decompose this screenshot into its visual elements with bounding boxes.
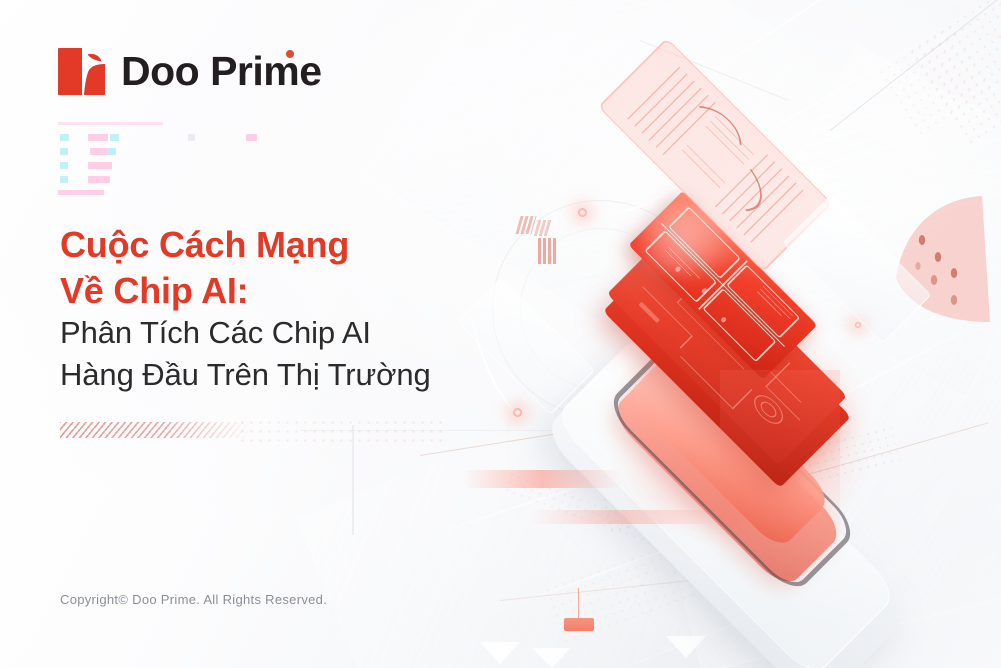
copyright-text: Copyright© Doo Prime. All Rights Reserve… — [60, 592, 327, 607]
brand-accent-dot — [286, 50, 294, 58]
motion-band — [462, 470, 622, 488]
motion-band — [530, 510, 720, 524]
hero-banner: Doo Prime Cuộc Cách Mạng Về Chip AI: Phâ… — [0, 0, 1001, 668]
bg-line — [352, 425, 354, 535]
glass-fragment — [457, 277, 595, 415]
brand-logo[interactable]: Doo Prime — [58, 48, 322, 95]
motion-band — [720, 370, 840, 570]
chip-illustration — [470, 40, 1001, 640]
dot-grid-mid — [238, 418, 443, 442]
hero-headline: Cuộc Cách Mạng Về Chip AI: — [60, 222, 349, 314]
doo-prime-mark-icon — [58, 48, 105, 95]
hero-subheadline: Phân Tích Các Chip AI Hàng Đầu Trên Thị … — [60, 312, 431, 395]
code-lines-decor — [58, 120, 268, 204]
hatch-bar — [60, 422, 250, 438]
